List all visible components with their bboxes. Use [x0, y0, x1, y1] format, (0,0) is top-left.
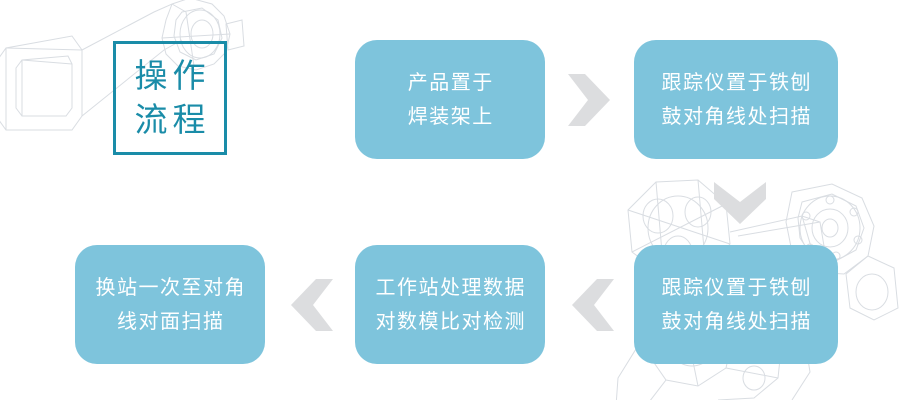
process-step-4[interactable]: 工作站处理数据 对数模比对检测 — [355, 245, 545, 364]
process-step-2-line-1: 跟踪仪置于铁刨 — [660, 66, 812, 100]
process-step-4-line-1: 工作站处理数据 — [374, 271, 526, 305]
arrow-down-icon-step2-step3 — [712, 180, 768, 226]
flowchart-canvas: 操作 流程 产品置于 焊装架上 跟踪仪置于铁刨 鼓对角线处扫描 跟踪仪置于铁刨 … — [0, 0, 900, 400]
process-step-3-line-2: 鼓对角线处扫描 — [660, 305, 812, 339]
process-step-2[interactable]: 跟踪仪置于铁刨 鼓对角线处扫描 — [634, 40, 838, 159]
page-title-line-1: 操作 — [130, 54, 211, 98]
page-title-line-2: 流程 — [130, 98, 211, 142]
process-step-1-line-1: 产品置于 — [406, 66, 494, 100]
process-step-2-line-2: 鼓对角线处扫描 — [660, 100, 812, 134]
process-step-3[interactable]: 跟踪仪置于铁刨 鼓对角线处扫描 — [634, 245, 838, 364]
process-step-3-line-1: 跟踪仪置于铁刨 — [660, 271, 812, 305]
arrow-left-icon-step3-step4 — [570, 277, 616, 333]
page-title: 操作 流程 — [113, 41, 227, 155]
process-step-1[interactable]: 产品置于 焊装架上 — [355, 40, 545, 159]
process-step-5-line-2: 线对面扫描 — [116, 305, 225, 339]
arrow-left-icon-step4-step5 — [289, 277, 335, 333]
process-step-5-line-1: 换站一次至对角 — [94, 271, 246, 305]
process-step-1-line-2: 焊装架上 — [406, 100, 494, 134]
arrow-right-icon-step1-step2 — [566, 72, 612, 128]
process-step-5[interactable]: 换站一次至对角 线对面扫描 — [75, 245, 265, 364]
process-step-4-line-2: 对数模比对检测 — [374, 305, 526, 339]
